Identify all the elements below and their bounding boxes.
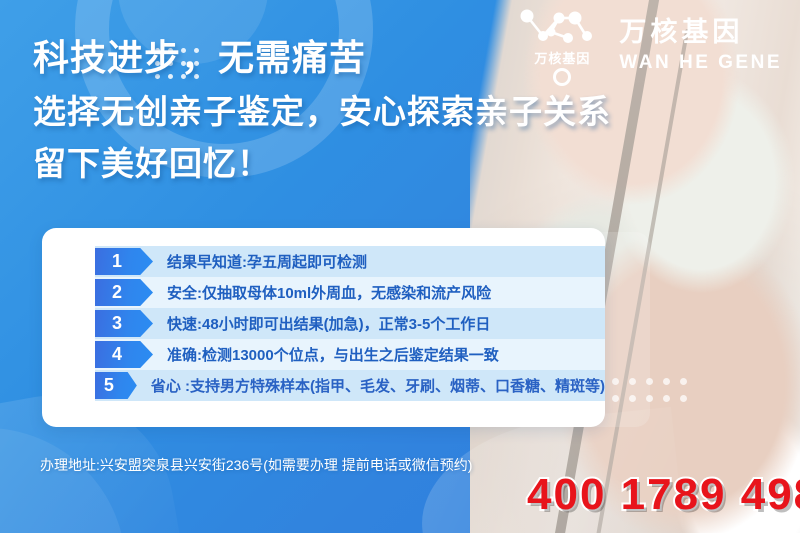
feature-row: 3快速:48小时即可出结果(加急)，正常3-5个工作日 bbox=[42, 308, 605, 339]
feature-text: 结果早知道:孕五周起即可检测 bbox=[167, 251, 367, 272]
feature-row: 5省心 :支持男方特殊样本(指甲、毛发、牙刷、烟蒂、口香糖、精斑等) bbox=[42, 370, 605, 401]
feature-list: 1结果早知道:孕五周起即可检测2安全:仅抽取母体10ml外周血，无感染和流产风险… bbox=[42, 246, 605, 401]
brand-name-en: WAN HE GENE bbox=[619, 53, 782, 72]
headline-line-1: 科技进步，无需痛苦 bbox=[33, 36, 611, 80]
feature-row: 4准确:检测13000个位点，与出生之后鉴定结果一致 bbox=[42, 339, 605, 370]
brand-name-block: 万核基因 WAN HE GENE bbox=[619, 19, 782, 72]
feature-text: 省心 :支持男方特殊样本(指甲、毛发、牙刷、烟蒂、口香糖、精斑等) bbox=[151, 375, 605, 396]
headline-block: 科技进步，无需痛苦 选择无创亲子鉴定，安心探索亲子关系 留下美好回忆！ bbox=[33, 36, 611, 186]
phone-number[interactable]: 400 1789 498 bbox=[527, 470, 800, 520]
feature-text: 快速:48小时即可出结果(加急)，正常3-5个工作日 bbox=[167, 313, 490, 334]
headline-line-2: 选择无创亲子鉴定，安心探索亲子关系 bbox=[33, 90, 611, 134]
feature-text: 准确:检测13000个位点，与出生之后鉴定结果一致 bbox=[167, 344, 499, 365]
feature-text: 安全:仅抽取母体10ml外周血，无感染和流产风险 bbox=[167, 282, 491, 303]
brand-name-cn: 万核基因 bbox=[619, 19, 743, 46]
dot-pattern-card bbox=[612, 378, 687, 402]
headline-line-3: 留下美好回忆！ bbox=[33, 142, 611, 186]
promo-banner: 万核基因 万核基因 WAN HE GENE 科技进步，无需痛苦 选择无创亲子鉴定… bbox=[0, 0, 800, 533]
feature-row: 2安全:仅抽取母体10ml外周血，无感染和流产风险 bbox=[42, 277, 605, 308]
address-text: 办理地址:兴安盟突泉县兴安街236号(如需要办理 提前电话或微信预约) bbox=[40, 455, 472, 475]
feature-row: 1结果早知道:孕五周起即可检测 bbox=[42, 246, 605, 277]
feature-card: 1结果早知道:孕五周起即可检测2安全:仅抽取母体10ml外周血，无感染和流产风险… bbox=[42, 228, 605, 427]
